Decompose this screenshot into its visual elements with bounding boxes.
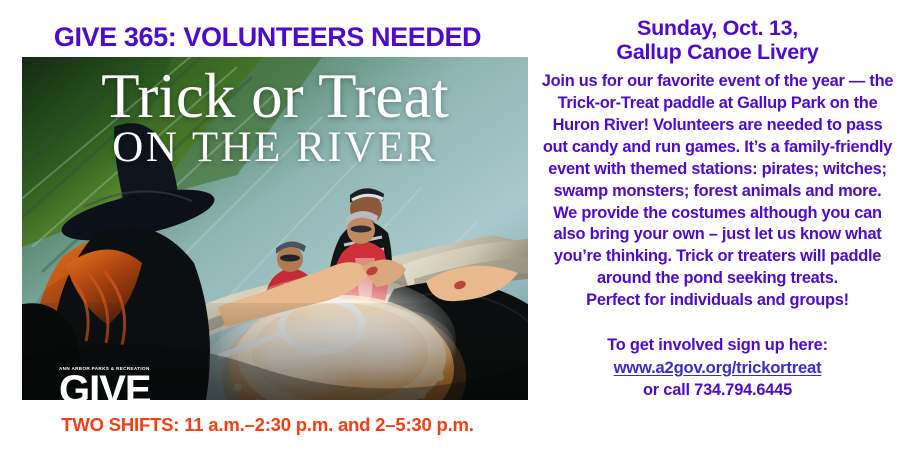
event-emphasis: Perfect for individuals and groups!: [541, 290, 894, 312]
signup-prompt: To get involved sign up here:: [535, 334, 900, 357]
event-location: Gallup Canoe Livery: [535, 40, 900, 64]
give365-logo: ANN ARBOR PARKS & RECREATION GIVE 365: [59, 367, 164, 400]
left-column: GIVE 365: VOLUNTEERS NEEDED: [0, 0, 535, 450]
event-date: Sunday, Oct. 13,: [535, 16, 900, 40]
event-description: Join us for our favorite event of the ye…: [541, 71, 894, 290]
logo-wordmark: GIVE: [59, 373, 164, 400]
page-title: GIVE 365: VOLUNTEERS NEEDED: [0, 22, 535, 53]
signup-url-link[interactable]: www.a2gov.org/trickortreat: [614, 357, 822, 380]
poster-root: GIVE 365: VOLUNTEERS NEEDED: [0, 0, 900, 450]
event-photo: ARGO: [22, 57, 528, 400]
shifts-text: TWO SHIFTS: 11 a.m.–2:30 p.m. and 2–5:30…: [0, 414, 535, 436]
event-when: Sunday, Oct. 13, Gallup Canoe Livery: [535, 0, 900, 64]
right-column: Sunday, Oct. 13, Gallup Canoe Livery Joi…: [535, 0, 900, 450]
signup-phone: or call 734.794.6445: [535, 379, 900, 402]
event-photo-illustration: ARGO: [22, 57, 528, 400]
signup-block: To get involved sign up here: www.a2gov.…: [535, 334, 900, 402]
